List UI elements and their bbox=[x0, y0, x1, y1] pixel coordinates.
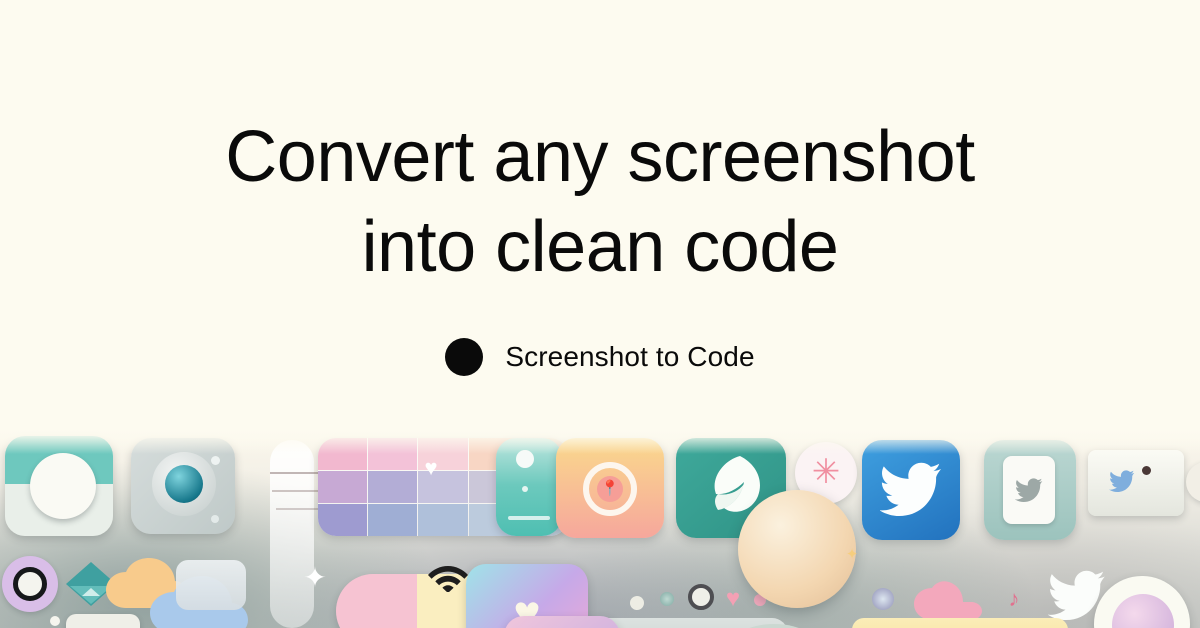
headline-line-1: Convert any screenshot bbox=[225, 112, 974, 202]
rounded-white-card-icon bbox=[66, 614, 140, 628]
white-column-decor bbox=[270, 440, 314, 628]
pink-tag-glyph-icon: ♪ bbox=[1004, 584, 1024, 614]
hero-text-block: Convert any screenshot into clean code S… bbox=[0, 0, 1200, 440]
pink-heart-small-icon: ♥ bbox=[720, 586, 746, 612]
yellow-bar-icon bbox=[852, 618, 1068, 628]
pin-marker-icon: 📍 bbox=[602, 479, 618, 497]
mint-panel-dot bbox=[516, 450, 534, 468]
hairline-3 bbox=[276, 508, 320, 510]
grey-dot-icon bbox=[630, 596, 644, 610]
camera-flash-dot bbox=[211, 456, 220, 465]
brand-lockup: Screenshot to Code bbox=[445, 338, 754, 376]
light-card-a bbox=[176, 560, 246, 610]
device-bird-glyph-icon bbox=[1014, 478, 1044, 502]
illustration-strip: ♥ 📍 ✳ bbox=[0, 428, 1200, 628]
mint-panel-slot bbox=[508, 516, 550, 520]
ring-inner-icon bbox=[13, 567, 47, 601]
tablet-bird-glyph-icon bbox=[1106, 470, 1138, 492]
sphere-icon bbox=[738, 490, 856, 608]
heart-small-icon: ♥ bbox=[418, 456, 444, 480]
camera-mic-dot bbox=[211, 515, 219, 523]
wifi-icon bbox=[428, 562, 468, 592]
twitter-bird-glyph-icon bbox=[880, 462, 942, 516]
brand-logo-circle-icon bbox=[445, 338, 483, 376]
page-title: Convert any screenshot into clean code bbox=[225, 112, 974, 292]
pink-purple-tile-icon bbox=[504, 616, 620, 628]
grey-widget-lens bbox=[660, 592, 674, 606]
brand-name-label: Screenshot to Code bbox=[505, 341, 754, 373]
flower-glyph-icon: ✳ bbox=[806, 452, 846, 492]
tablet-dot-icon bbox=[1142, 466, 1151, 475]
og-card: Convert any screenshot into clean code S… bbox=[0, 0, 1200, 628]
mint-panel-led bbox=[522, 486, 528, 492]
headline-line-2: into clean code bbox=[225, 202, 974, 292]
circle-toggle-knob bbox=[30, 453, 96, 519]
tiny-sparkle-icon: ✦ bbox=[844, 546, 860, 562]
hairline-2 bbox=[272, 490, 324, 492]
sparkle-icon: ✦ bbox=[300, 562, 330, 592]
pink-cloud-icon bbox=[914, 580, 982, 622]
dark-ring-icon bbox=[688, 584, 714, 610]
pink-widget-lens bbox=[872, 588, 894, 610]
camera-lens-glass bbox=[165, 465, 203, 503]
small-white-dot-icon bbox=[50, 616, 60, 626]
